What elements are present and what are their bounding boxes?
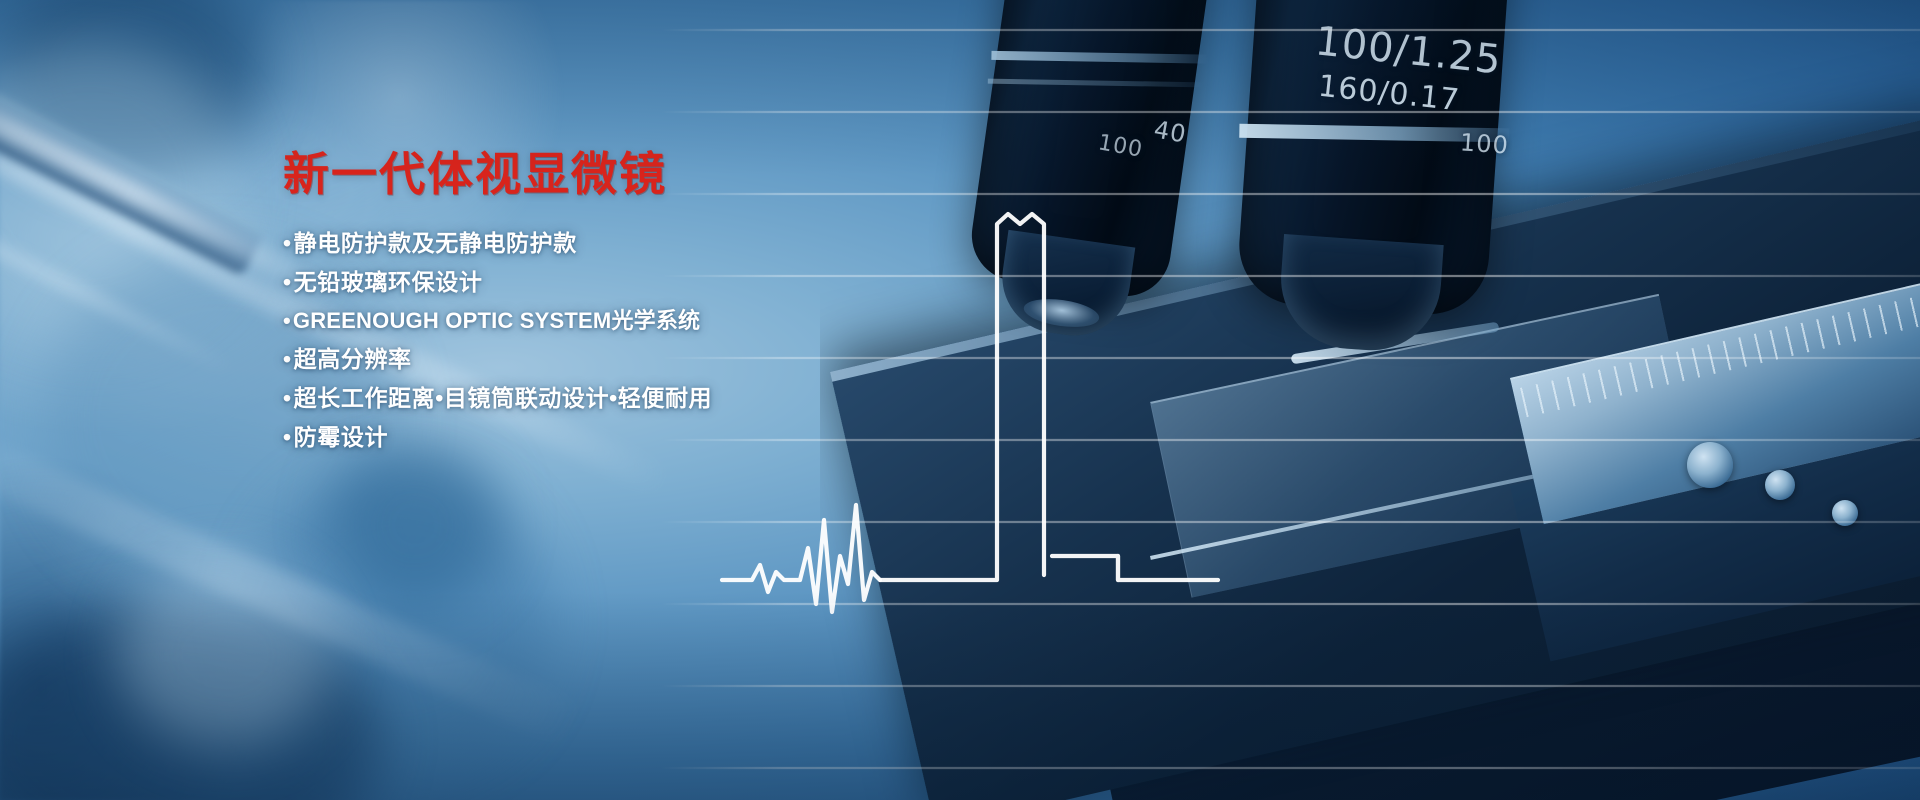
vignette-overlay — [0, 0, 1920, 800]
hero-banner: 100 40 100/1.25 160/0.17 100 — [0, 0, 1920, 800]
